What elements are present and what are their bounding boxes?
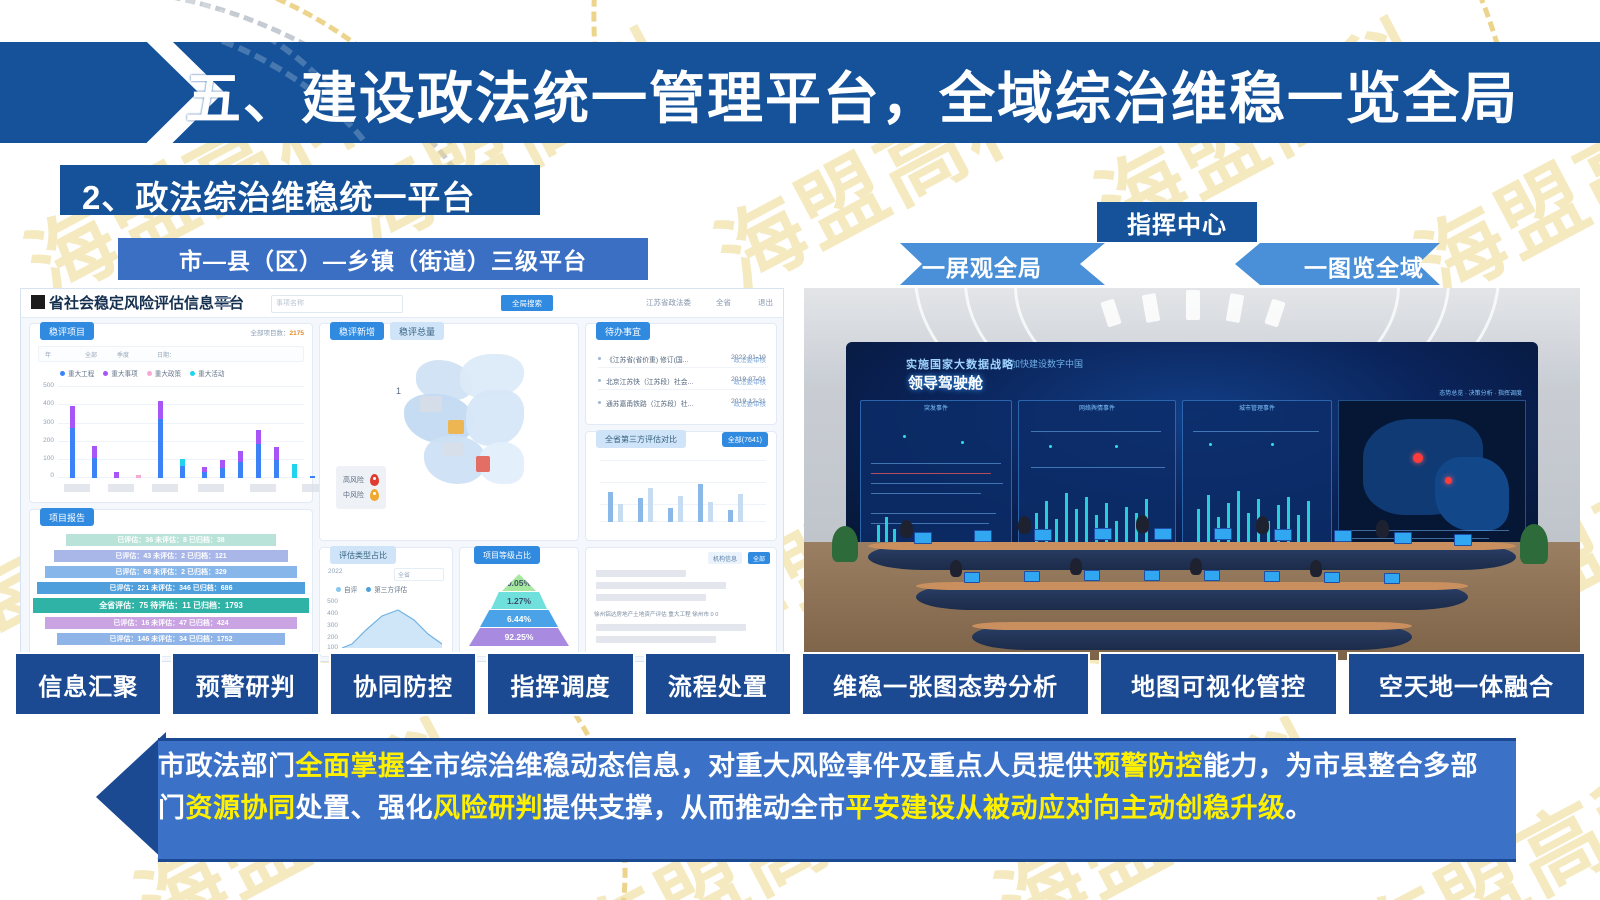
bar	[678, 496, 683, 522]
summary-line1-a: 市政法部门	[158, 751, 296, 781]
detail-filter-all[interactable]: 全部	[748, 552, 770, 564]
bar	[114, 472, 119, 478]
legend-item: 重大事项	[103, 368, 137, 378]
funnel-chart: 已评估：36 未评估：8 已归档：38 已评估：43 未评估：2 已归档：121…	[30, 532, 312, 652]
legend-item: 自评	[336, 584, 357, 594]
risk-medium-label: 中风险	[343, 490, 364, 500]
summary-line1-b: 全市综治维稳动态信息，对重大风险事件及重点人员提供	[406, 751, 1094, 781]
bar	[202, 467, 207, 478]
search-input[interactable]: 事项名称	[271, 295, 403, 313]
compare-filter-tag[interactable]: 全部(7641)	[722, 432, 768, 447]
funnel-row: 全省评估：75 待评估：11 已归档：1793	[33, 598, 309, 613]
command-center-photo: 实施国家大数据战略 加快建设数字中国 领导驾驶舱 态势总览 · 决策分析 · 指…	[804, 288, 1580, 660]
legend-item: 重大政策	[147, 368, 181, 378]
trend-panel-tab[interactable]: 评估类型占比	[330, 546, 396, 564]
level-platform-label: 市—县（区）—乡镇（街道）三级平台	[179, 242, 587, 276]
wall-panel-title: 突发事件	[861, 403, 1011, 412]
compare-panel: 全省第三方评估对比 全部(7641)	[585, 431, 777, 541]
wall-subtitle: 领导驾驶舱	[908, 372, 983, 393]
summary-line2-b: 处置、强化	[296, 793, 434, 823]
project-bar-panel: 稳评项目 全部项目数：2175 年 全部 季度 日期： 重大工程 重大事项 重大…	[29, 323, 313, 503]
ratio-pyramid-panel: 项目等级占比 0.05% 1.27% 6.44% 92.25%	[459, 547, 579, 657]
todo-panel-tab[interactable]: 待办事宜	[596, 322, 650, 340]
map-count: 1	[396, 386, 401, 396]
bar	[668, 508, 673, 522]
bullet-icon	[598, 401, 601, 404]
bar	[698, 484, 703, 522]
risk-map-panel: 稳评新增 稳评总量 1 高风险 中风险	[319, 323, 579, 541]
command-center-title: 指挥中心	[1097, 202, 1257, 242]
summary-line2-highlight-1: 资源协同	[186, 793, 296, 823]
filter-date-label: 日期：	[157, 350, 175, 359]
video-wall: 实施国家大数据战略 加快建设数字中国 领导驾驶舱 态势总览 · 决策分析 · 指…	[846, 342, 1538, 552]
bar	[310, 476, 315, 478]
ribbon-left-label: 一屏观全局	[922, 249, 1042, 283]
bar	[220, 460, 225, 478]
detail-filter-org[interactable]: 机构信息	[708, 552, 742, 564]
capability-tag-command-dispatch[interactable]: 指挥调度	[486, 652, 634, 716]
list-item[interactable]: 北京江苏快（江苏段）社会... 2019-07-01 政法委审核	[598, 372, 768, 390]
floor	[804, 542, 1580, 660]
capability-tag-row: 信息汇聚 预警研判 协同防控 指挥调度 流程处置 维稳一张图态势分析 地图可视化…	[0, 652, 1600, 716]
summary-line1-c: 能力，为市县整合多	[1203, 751, 1451, 781]
bar	[708, 502, 713, 522]
capability-tag-situation-map[interactable]: 维稳一张图态势分析	[801, 652, 1090, 716]
trend-panel: 评估类型占比 2022 全省 自评 第三方评估 500 400 300 200 …	[319, 547, 453, 657]
command-center-title-label: 指挥中心	[1127, 205, 1227, 240]
summary-line1-highlight-2: 预警防控	[1093, 751, 1203, 781]
legend-item: 重大工程	[60, 368, 94, 378]
map-tab-total[interactable]: 稳评总量	[390, 322, 444, 340]
summary-line2-c: 提供支撑，从而推动全市	[543, 793, 846, 823]
wall-headline: 实施国家大数据战略	[906, 356, 1014, 372]
risk-legend-row: 中风险	[343, 489, 379, 501]
bar-chart-plot: 500 400 300 200 100 0	[58, 386, 304, 478]
trend-legend: 自评 第三方评估	[336, 584, 407, 594]
bar	[728, 510, 733, 522]
detail-list-panel: 机构信息 全部 徐州铝达房地产土地资产评估 重大工程 徐州市 0 0	[585, 547, 777, 657]
ratio-panel-tab[interactable]: 项目等级占比	[474, 546, 540, 564]
summary-banner: 市政法部门全面掌握全市综治维稳动态信息，对重大风险事件及重点人员提供预警防控能力…	[96, 732, 1516, 862]
bar	[274, 447, 279, 478]
settings-label[interactable]: 全省	[716, 297, 731, 308]
capability-tag-map-visualization[interactable]: 地图可视化管控	[1099, 652, 1338, 716]
ribbon-right-label: 一图览全域	[1304, 249, 1424, 283]
map-region	[466, 390, 524, 446]
pyramid-row: 1.27%	[491, 592, 547, 609]
map-region-highlight	[476, 456, 490, 472]
global-search-button[interactable]: 全局搜索	[501, 295, 553, 311]
search-placeholder: 事项名称	[276, 298, 304, 308]
wall-nav-item: 指挥调度	[1498, 391, 1522, 397]
desk-surface	[868, 542, 1516, 550]
detail-row: 徐州铝达房地产土地资产评估 重大工程 徐州市 0 0	[594, 610, 718, 618]
list-item[interactable]: 通苏嘉甬铁路（江苏段）社... 2019-12-31 政法委审核	[598, 394, 768, 411]
pyramid-row: 92.25%	[469, 628, 569, 646]
bar	[180, 459, 185, 478]
wall-nav-item: 态势总览	[1439, 391, 1463, 397]
compare-chart	[600, 460, 766, 532]
report-funnel-panel: 项目报告 已评估：36 未评估：8 已归档：38 已评估：43 未评估：2 已归…	[29, 509, 313, 657]
funnel-row: 已评估：43 未评估：2 已归档：121	[54, 550, 288, 562]
logout-label[interactable]: 退出	[758, 297, 773, 308]
bullet-icon	[598, 357, 601, 360]
trend-scope-select[interactable]: 全省	[394, 568, 444, 581]
user-label[interactable]: 江苏省政法委	[646, 297, 691, 308]
funnel-row: 已评估：146 未评估：34 已归档：1752	[57, 633, 285, 645]
map-pin-high-icon	[370, 474, 379, 486]
bar	[638, 498, 643, 522]
project-panel-tab[interactable]: 稳评项目	[40, 322, 94, 340]
wall-panel: 突发事件	[860, 400, 1012, 548]
desk-surface	[972, 622, 1412, 630]
trend-year[interactable]: 2022	[328, 568, 342, 575]
legend-item: 重大活动	[190, 368, 224, 378]
wall-map	[1338, 400, 1526, 548]
capability-tag-early-warning[interactable]: 预警研判	[171, 652, 319, 716]
filter-quarter[interactable]: 季度	[117, 350, 129, 359]
summary-text: 市政法部门全面掌握全市综治维稳动态信息，对重大风险事件及重点人员提供预警防控能力…	[158, 746, 1490, 830]
project-total-value: 2175	[290, 330, 304, 337]
wall-nav-item: 决策分析	[1469, 391, 1493, 397]
compare-panel-tab[interactable]: 全省第三方评估对比	[596, 430, 686, 448]
funnel-row: 已评估：221 未评估：346 已归档：686	[37, 582, 305, 594]
todo-status: 政法委审核	[734, 354, 767, 364]
bar	[608, 492, 613, 522]
todo-text: 北京江苏快（江苏段）社会...	[606, 376, 693, 386]
bar	[70, 406, 75, 478]
bar	[618, 504, 623, 522]
filter-year[interactable]: 年	[45, 350, 51, 359]
level-platform-tag: 市—县（区）—乡镇（街道）三级平台	[118, 238, 648, 280]
bar	[92, 446, 97, 478]
summary-line1-highlight-1: 全面掌握	[296, 751, 406, 781]
project-total-label: 全部项目数：	[251, 330, 290, 337]
wall-panel: 网络舆情事件	[1018, 400, 1176, 548]
risk-high-label: 高风险	[343, 475, 364, 485]
map-region-highlight	[448, 420, 464, 434]
wall-panel-title: 城市管理事件	[1183, 403, 1331, 412]
capability-tag-joint-prevention[interactable]: 协同防控	[329, 652, 477, 716]
bullet-icon	[598, 379, 601, 382]
command-center-ribbon: 一屏观全局 一图览全域	[900, 243, 1440, 285]
funnel-row: 已评估：68 未评估：2 已归档：329	[45, 566, 297, 578]
plant	[1520, 524, 1548, 564]
dashboard-app-name: 省社会稳定风险评估信息平台	[49, 292, 244, 313]
capability-tag-air-space-ground[interactable]: 空天地一体融合	[1347, 652, 1586, 716]
todo-status: 政法委审核	[734, 398, 767, 408]
plant	[832, 526, 858, 562]
summary-line2-highlight-2: 风险研判	[433, 793, 543, 823]
pyramid-row: 6.44%	[480, 610, 558, 627]
map-tab-new[interactable]: 稳评新增	[330, 322, 384, 340]
map-pin-medium-icon	[370, 489, 379, 501]
funnel-row: 已评估：36 未评估：8 已归档：38	[66, 534, 276, 546]
summary-line2-d: 。	[1286, 793, 1314, 823]
summary-arrow-shape	[96, 732, 166, 862]
todo-status: 政法委审核	[734, 376, 767, 386]
section-tag-label: 2、政法综治维稳统一平台	[82, 171, 475, 219]
page-title: 五、建设政法统一管理平台，全域综治维稳一览全局	[185, 54, 1519, 135]
risk-legend: 高风险 中风险	[336, 466, 386, 509]
bar	[738, 494, 743, 522]
menu-icon[interactable]	[216, 297, 231, 308]
legend-item: 第三方评估	[366, 584, 407, 594]
todo-text: 通苏嘉甬铁路（江苏段）社...	[606, 398, 693, 408]
section-tag: 2、政法综治维稳统一平台	[60, 165, 540, 215]
list-item[interactable]: 《江苏省(省价重) 修订(国... 2022-01-10 政法委审核	[598, 350, 768, 368]
bar	[648, 488, 653, 522]
summary-line2-highlight-3: 平安建设从被动应对向主动创稳升级	[846, 793, 1286, 823]
todo-text: 《江苏省(省价重) 修订(国...	[606, 354, 688, 364]
bar	[158, 401, 163, 478]
bar	[256, 430, 261, 478]
dashboard-toolbar: 省社会稳定风险评估信息平台 事项名称 全局搜索 江苏省政法委 全省 退出	[21, 289, 783, 318]
risk-legend-row: 高风险	[343, 474, 379, 486]
bar	[238, 451, 243, 478]
pyramid-row: 0.05%	[502, 574, 536, 591]
bar-chart-legend: 重大工程 重大事项 重大政策 重大活动	[60, 368, 225, 378]
report-panel-tab[interactable]: 项目报告	[40, 508, 94, 526]
trend-area-chart	[342, 600, 442, 648]
wall-panel-title: 网络舆情事件	[1019, 403, 1175, 412]
capability-tag-process-handling[interactable]: 流程处置	[644, 652, 792, 716]
pyramid-chart: 0.05% 1.27% 6.44% 92.25%	[460, 572, 578, 656]
risk-assessment-dashboard-screenshot: 省社会稳定风险评估信息平台 事项名称 全局搜索 江苏省政法委 全省 退出 稳评项…	[20, 288, 784, 662]
wall-headline-secondary: 加快建设数字中国	[1011, 357, 1083, 370]
app-logo-icon	[31, 295, 45, 309]
bar	[292, 464, 297, 478]
funnel-row: 已评估：16 未评估：47 已归档：424	[45, 617, 297, 629]
bar	[136, 475, 141, 478]
filter-scope[interactable]: 全部	[85, 350, 97, 359]
capability-tag-info-aggregation[interactable]: 信息汇聚	[14, 652, 162, 716]
todo-panel: 待办事宜 《江苏省(省价重) 修订(国... 2022-01-10 政法委审核 …	[585, 323, 777, 425]
